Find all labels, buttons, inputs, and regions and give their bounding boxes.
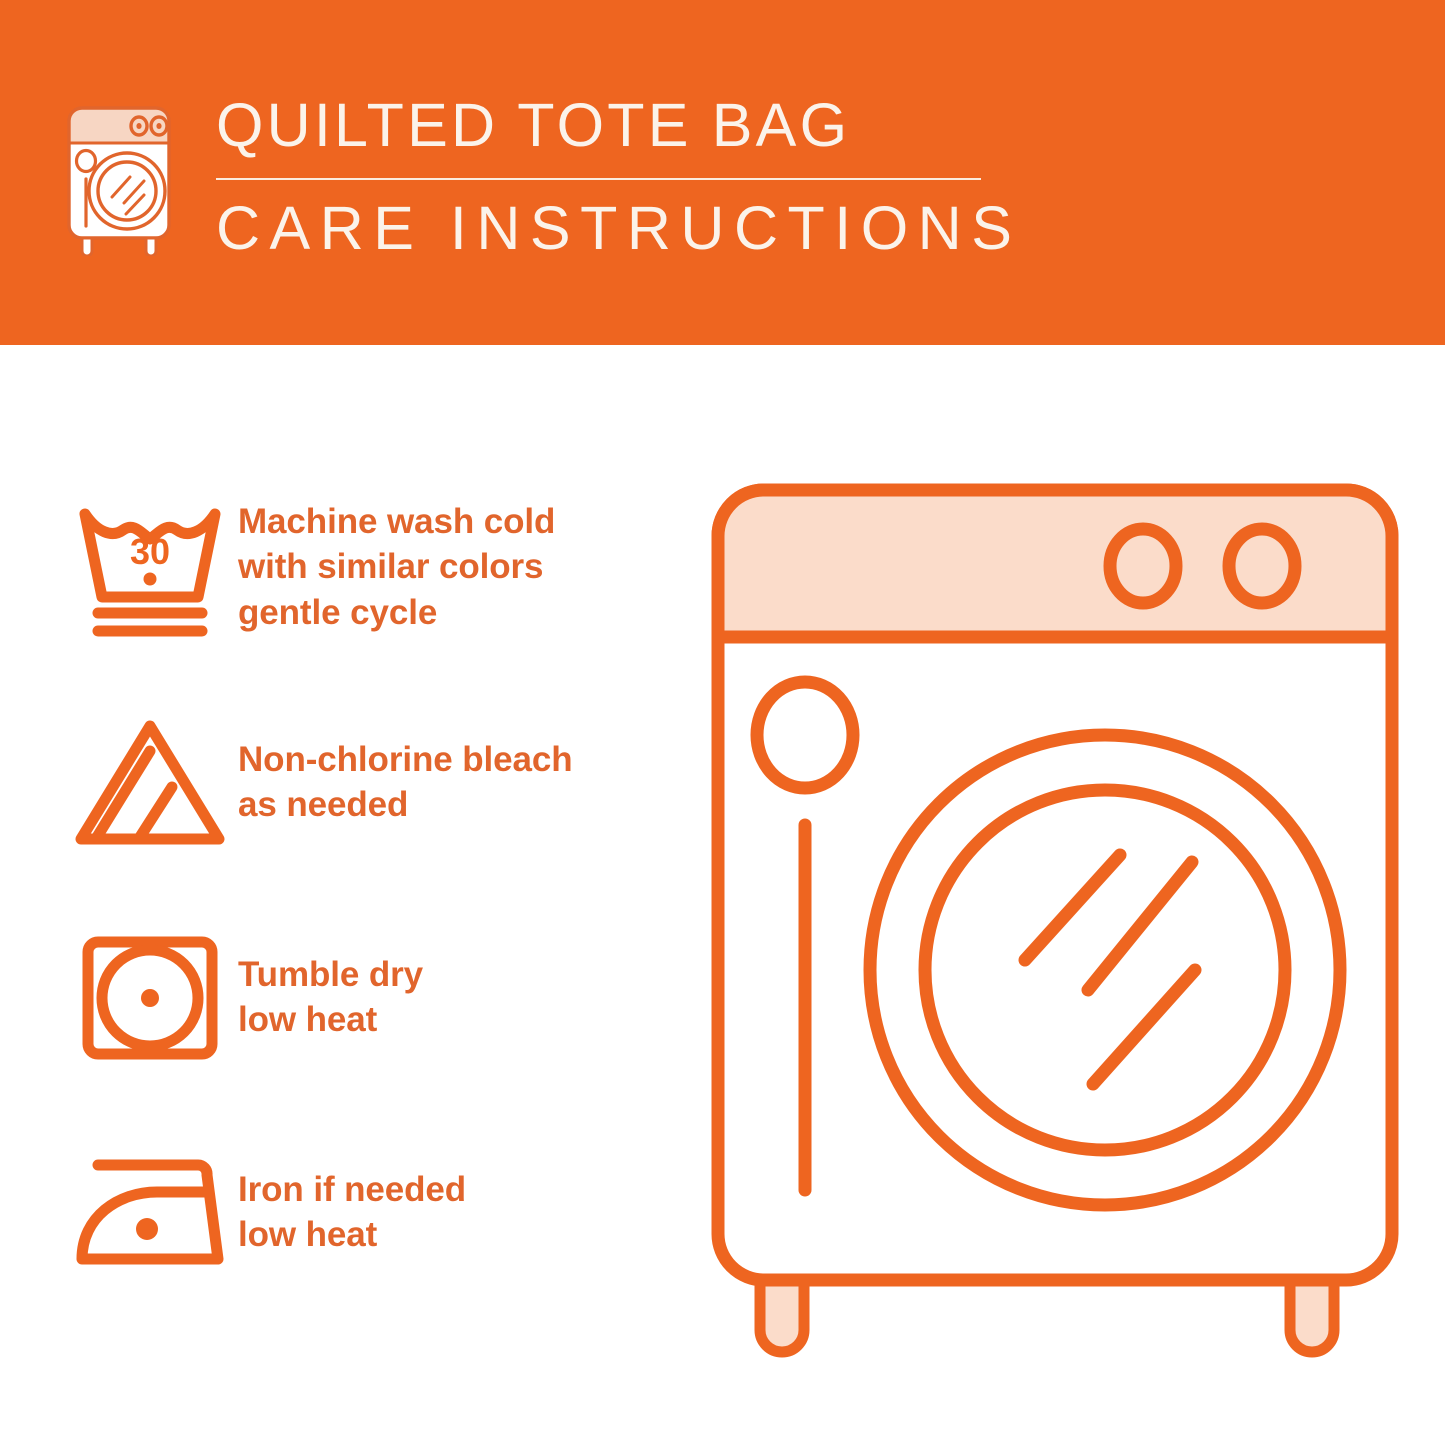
care-label-bleach: Non-chlorine bleach as needed [238,737,573,828]
title-divider [216,178,981,180]
care-label-line: Tumble dry [238,952,423,998]
machine-wash-30-icon: 30 [62,492,238,642]
care-label-line: with similar colors [238,544,555,590]
care-instruction-list: 30 Machine wash cold with similar colors… [62,487,682,1292]
header-banner: QUILTED TOTE BAG CARE INSTRUCTIONS [0,0,1445,345]
non-chlorine-bleach-triangle-icon [62,707,238,857]
care-row-tumble-dry: Tumble dry low heat [62,917,682,1077]
tumble-dry-low-icon [62,922,238,1072]
title-block: QUILTED TOTE BAG CARE INSTRUCTIONS [216,95,986,259]
care-label-tumble-dry: Tumble dry low heat [238,952,423,1043]
care-label-iron: Iron if needed low heat [238,1167,466,1258]
wash-temperature-label: 30 [130,531,170,572]
page-subtitle: CARE INSTRUCTIONS [216,198,986,259]
front-load-washing-machine-illustration [700,470,1410,1370]
care-row-bleach: Non-chlorine bleach as needed [62,702,682,862]
care-row-machine-wash: 30 Machine wash cold with similar colors… [62,487,682,647]
iron-low-heat-icon [62,1137,238,1287]
care-label-line: low heat [238,1212,466,1258]
page-title: QUILTED TOTE BAG [216,95,986,156]
washing-machine-icon [60,101,178,256]
care-label-machine-wash: Machine wash cold with similar colors ge… [238,499,555,636]
care-row-iron: Iron if needed low heat [62,1132,682,1292]
care-label-line: low heat [238,997,423,1043]
care-label-line: Non-chlorine bleach [238,737,573,783]
header-content: QUILTED TOTE BAG CARE INSTRUCTIONS [60,95,986,259]
care-label-line: as needed [238,782,573,828]
foot-right [1290,1275,1334,1352]
foot-left [760,1275,804,1352]
care-label-line: Machine wash cold [238,499,555,545]
care-label-line: gentle cycle [238,590,555,636]
care-label-line: Iron if needed [238,1167,466,1213]
care-instructions-infographic: QUILTED TOTE BAG CARE INSTRUCTIONS 30 [0,0,1445,1445]
